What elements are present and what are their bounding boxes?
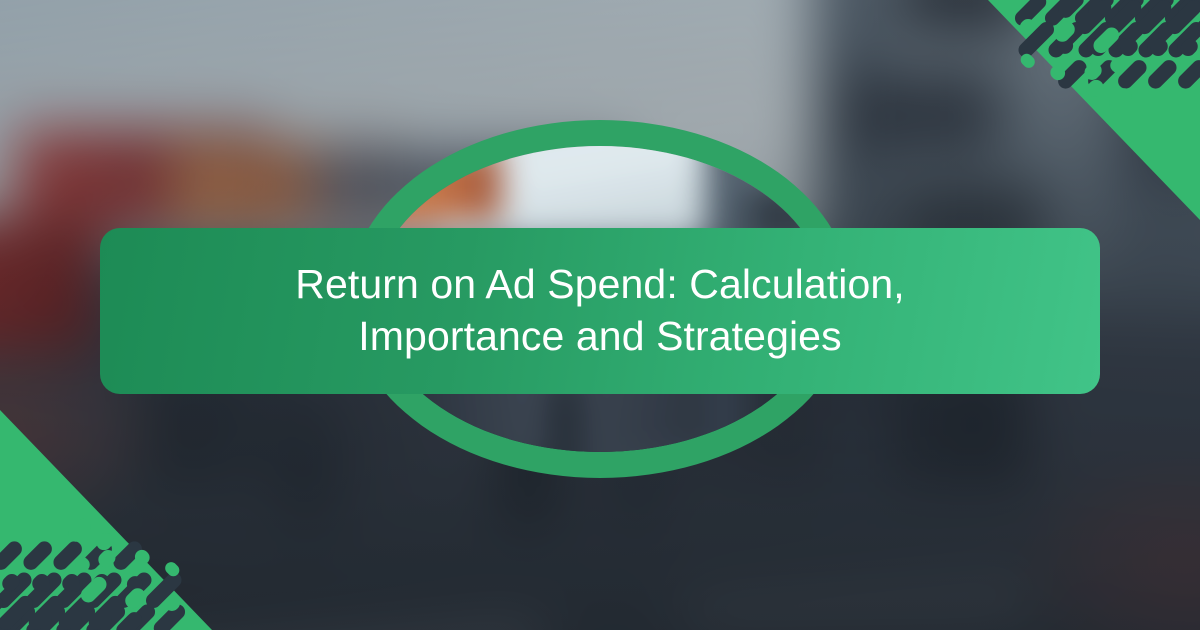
title-banner: Return on Ad Spend: Calculation, Importa…: [100, 228, 1100, 394]
storefront-sign: [389, 148, 502, 220]
page-title: Return on Ad Spend: Calculation, Importa…: [210, 259, 990, 362]
share-card-canvas: Return on Ad Spend: Calculation, Importa…: [0, 0, 1200, 630]
